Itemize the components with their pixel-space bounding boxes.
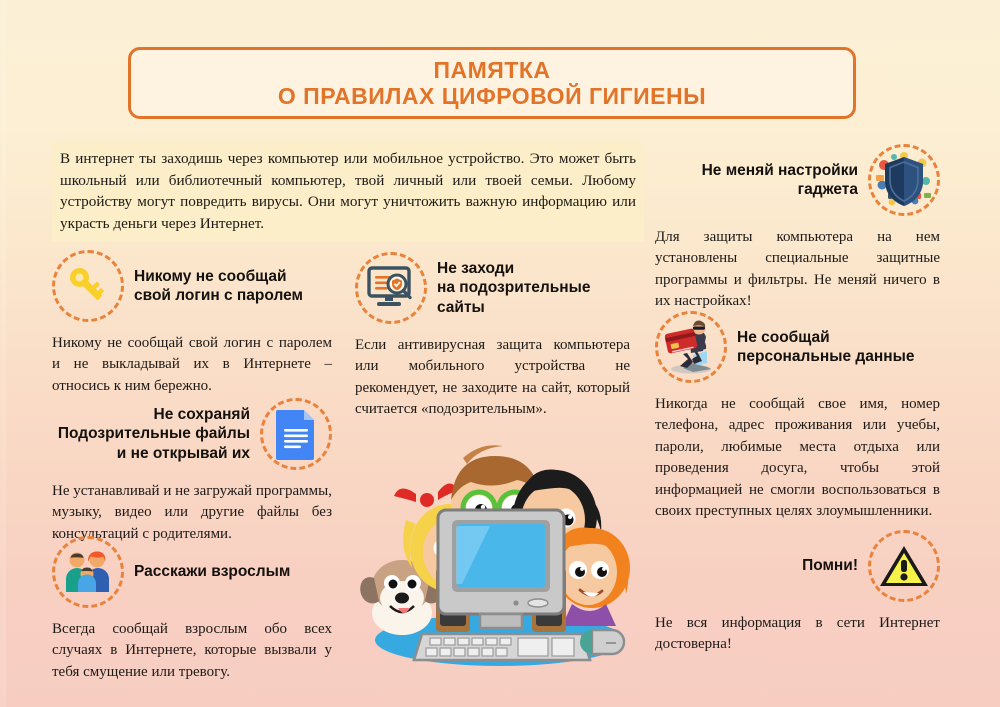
section-password-title: Никому не сообщай свой логин с паролем (134, 267, 303, 306)
section-adults-text: Всегда сообщай взрослым обо всех случаях… (52, 619, 332, 683)
section-remember: Помни! Не вся информация в сети Интернет… (655, 530, 940, 656)
section-adults-title: Расскажи взрослым (134, 562, 290, 581)
thief-card-icon (655, 311, 727, 383)
intro-paragraph: В интернет ты заходишь через компьютер и… (52, 142, 644, 242)
poster-canvas: ПАМЯТКА О ПРАВИЛАХ ЦИФРОВОЙ ГИГИЕНЫ В ин… (0, 0, 1000, 707)
section-personal-header: Не сообщай персональные данные (655, 311, 940, 383)
family-icon (52, 536, 124, 608)
section-settings: Не меняй настройки гаджета Для защиты ко… (655, 144, 940, 313)
section-settings-text: Для защиты компьютера на нем установлены… (655, 227, 940, 313)
section-password-header: Никому не сообщай свой логин с паролем (52, 250, 332, 322)
warning-triangle-icon (868, 530, 940, 602)
section-personal-title: Не сообщай персональные данные (737, 328, 914, 367)
poster-title-box: ПАМЯТКА О ПРАВИЛАХ ЦИФРОВОЙ ГИГИЕНЫ (128, 47, 856, 119)
section-password: Никому не сообщай свой логин с паролем Н… (52, 250, 332, 397)
page-title-line-1: ПАМЯТКА (433, 58, 550, 82)
section-sites-text: Если антивирусная защита компьютера или … (355, 335, 630, 421)
page-title-line-2: О ПРАВИЛАХ ЦИФРОВОЙ ГИГИЕНЫ (278, 84, 706, 108)
section-sites: Не заходи на подозрительные сайты Если а… (355, 252, 630, 421)
section-files-header: Не сохраняй Подозрительные файлы и не от… (52, 398, 332, 470)
section-remember-header: Помни! (655, 530, 940, 602)
section-remember-text: Не вся информация в сети Интернет достов… (655, 613, 940, 656)
section-files: Не сохраняй Подозрительные файлы и не от… (52, 398, 332, 545)
section-personal: Не сообщай персональные данные Никогда н… (655, 311, 940, 523)
section-sites-header: Не заходи на подозрительные сайты (355, 252, 630, 324)
monitor-search-icon (355, 252, 427, 324)
key-icon (52, 250, 124, 322)
section-password-text: Никому не сообщай свой логин с паролем и… (52, 333, 332, 397)
section-adults-header: Расскажи взрослым (52, 536, 332, 608)
section-files-title: Не сохраняй Подозрительные файлы и не от… (58, 405, 250, 463)
section-settings-title: Не меняй настройки гаджета (702, 161, 858, 200)
section-personal-text: Никогда не сообщай свое имя, номер телеф… (655, 394, 940, 523)
shield-icon (868, 144, 940, 216)
section-remember-title: Помни! (802, 556, 858, 575)
section-settings-header: Не меняй настройки гаджета (655, 144, 940, 216)
section-sites-title: Не заходи на подозрительные сайты (437, 259, 591, 317)
kids-with-computer-illustration (340, 428, 650, 678)
section-adults: Расскажи взрослым Всегда сообщай взрослы… (52, 536, 332, 683)
document-icon (260, 398, 332, 470)
